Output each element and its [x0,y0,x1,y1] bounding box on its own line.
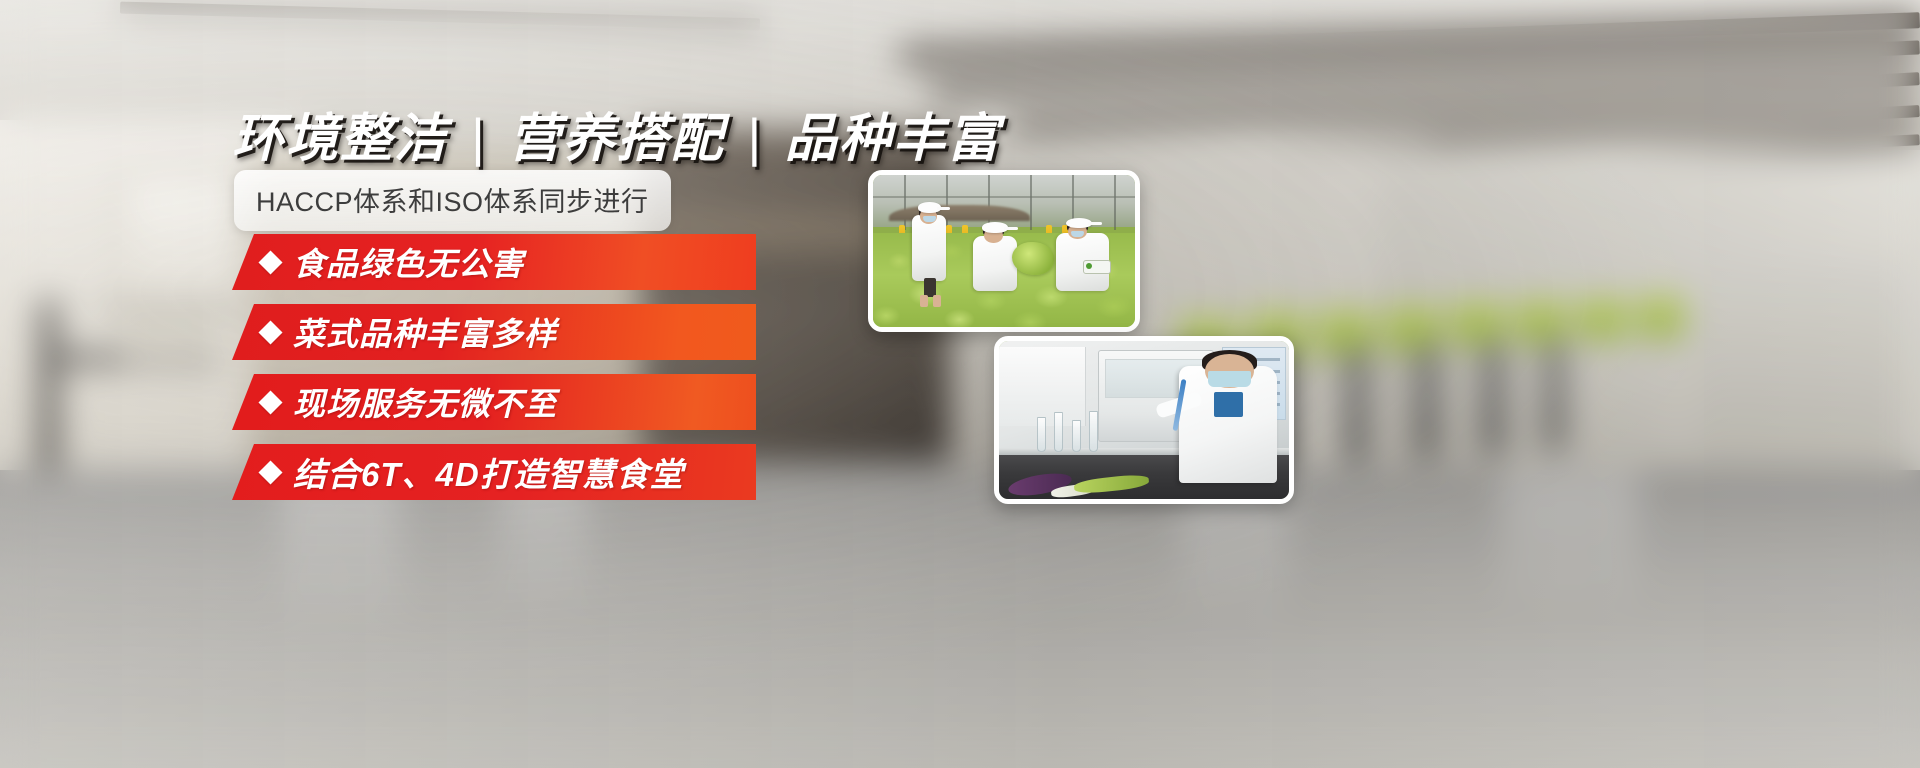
worker-legs [924,278,936,296]
test-tube [1072,420,1081,452]
feature-label-1: 食品绿色无公害 [293,239,524,285]
test-tube [1089,411,1098,452]
diamond-bullet-icon [258,460,282,484]
worker-lab-coat [973,236,1018,291]
lab-cabinet [999,347,1086,426]
diamond-bullet-icon [258,250,282,274]
headline-part-3: 品种丰富 [785,110,1001,168]
lab-image [999,341,1289,499]
feature-item-2[interactable]: 菜式品种丰富多样 [232,304,756,360]
held-lettuce [1012,242,1054,275]
greenhouse-frame [904,175,906,230]
greenhouse-rail [873,196,1135,198]
worker-face-mask [923,216,936,222]
headline-part-2: 营养搭配 [508,110,724,168]
feature-item-1[interactable]: 食品绿色无公害 [232,234,756,290]
feature-label-4: 结合6T、4D打造智慧食堂 [293,448,684,496]
feature-item-3[interactable]: 现场服务无微不至 [232,374,756,430]
greenhouse-soil-mound [889,205,1030,220]
worker-cap-icon [1066,218,1092,229]
feature-label-2: 菜式品种丰富多样 [293,309,557,355]
greenhouse-frame [946,175,948,230]
diamond-bullet-icon [258,390,282,414]
banner-headline: 环境整洁 | 营养搭配 | 品种丰富 [232,96,1001,171]
greenhouse-image [873,175,1135,327]
worker-cap-icon [918,202,942,213]
worker-cap-icon [982,222,1008,233]
company-badge [1083,260,1112,274]
headline-separator-1: | [464,108,492,168]
feature-list: 食品绿色无公害 菜式品种丰富多样 现场服务无微不至 结合6T、4D打造智慧食堂 [232,234,756,514]
greenhouse-frame [1030,175,1032,230]
technician-face-mask [1208,371,1252,387]
certification-pill: HACCP体系和ISO体系同步进行 [234,170,671,231]
worker-shin [920,295,928,307]
feature-item-4[interactable]: 结合6T、4D打造智慧食堂 [232,444,756,500]
headline-part-1: 环境整洁 [232,110,448,168]
technician-id-lanyard [1214,392,1243,417]
diamond-bullet-icon [258,320,282,344]
photo-greenhouse-inspection[interactable] [868,170,1140,332]
promo-banner: 环境整洁 | 营养搭配 | 品种丰富 HACCP体系和ISO体系同步进行 食品绿… [0,0,1920,768]
photo-lab-testing[interactable] [994,336,1294,504]
worker-shin [933,295,941,307]
test-tube [1037,417,1046,452]
worker-lab-coat [912,215,946,282]
headline-separator-2: | [741,108,769,168]
greenhouse-frame [1114,175,1116,230]
feature-label-3: 现场服务无微不至 [293,379,557,425]
test-tube [1054,412,1063,452]
